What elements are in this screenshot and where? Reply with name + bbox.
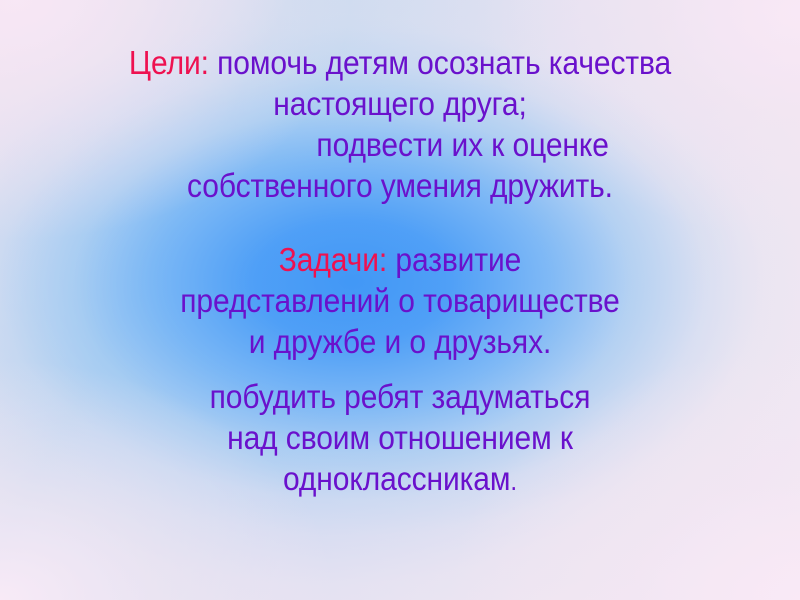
tasks-line-2: представлений о товариществе (42, 281, 758, 322)
tasks-line-1-text: развитие (395, 242, 521, 279)
goals-line-2: настоящего друга; (42, 84, 758, 125)
tasks-line-1: Задачи: развитие (42, 240, 758, 281)
slide-text-content: Цели: помочь детям осознать качества нас… (0, 0, 800, 600)
tasks-line-3: и дружбе и о друзьях. (42, 322, 758, 363)
goals-line-1-text: помочь детям осознать качества (217, 45, 671, 82)
paragraph-prompt: побудить ребят задуматься над своим отно… (0, 377, 800, 502)
prompt-final-period: . (510, 466, 517, 496)
tasks-keyword: Задачи: (279, 242, 396, 279)
prompt-line-3: одноклассникам. (42, 459, 758, 502)
paragraph-tasks: Задачи: развитие представлений о товарищ… (0, 240, 800, 363)
prompt-line-2: над своим отношением к (42, 418, 758, 459)
presentation-slide: Цели: помочь детям осознать качества нас… (0, 0, 800, 600)
prompt-line-3-text: одноклассникам (283, 461, 510, 498)
goals-keyword: Цели: (129, 45, 217, 82)
goals-line-1: Цели: помочь детям осознать качества (42, 43, 758, 84)
goals-line-4: собственного умения дружить. (42, 166, 758, 207)
goals-line-3: подвести их к оценке (105, 125, 800, 166)
prompt-line-1: побудить ребят задуматься (42, 377, 758, 418)
paragraph-goals: Цели: помочь детям осознать качества нас… (0, 43, 800, 207)
